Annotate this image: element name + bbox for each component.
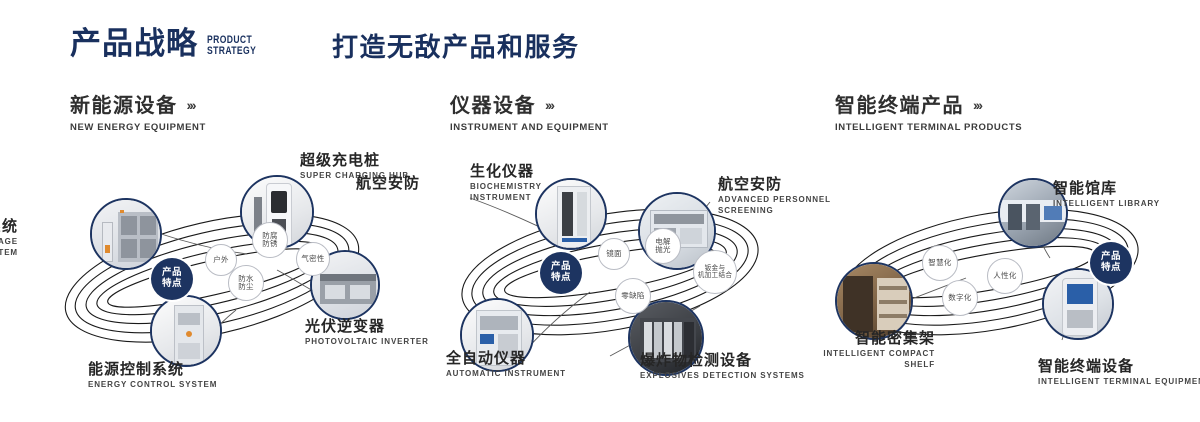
section-title-en: INTELLIGENT TERMINAL PRODUCTS [835,122,1022,133]
product-name-en: INTELLIGENT TERMINAL EQUIPMENT [1038,377,1200,388]
feature-label: 零缺陷 [621,292,644,300]
product-name-en: ENERGY STORAGE SYSTEM [0,237,18,259]
feature-label: 数字化 [948,294,971,302]
product-name-en: ENERGY CONTROL SYSTEM [88,380,278,391]
page-header: 产品战略 PRODUCT STRATEGY [70,28,270,59]
product-name-cn: 智能馆库 [1053,180,1200,197]
photo-energy-control-cabinet [152,297,220,365]
product-name-cn: 智能密集架 [745,330,935,347]
feature-bubble-digital[interactable]: 数字化 [942,280,978,316]
label-aviation-security-left: 航空安防 [330,175,420,192]
photo-energy-storage-cabinet [92,200,160,268]
node-compact-shelf[interactable] [835,262,913,340]
page-title-en: PRODUCT STRATEGY [207,35,256,57]
page-slogan: 打造无敌产品和服务 [332,34,580,60]
section-title-text: 仪器设备 [450,95,536,117]
label-automatic-instrument: 全自动仪器 AUTOMATIC INSTRUMENT [446,350,636,380]
product-name-cn: 全自动仪器 [446,350,636,367]
feature-label: 镜面 [606,250,622,258]
feature-bubble-waterproof[interactable]: 防水 防尘 [228,265,264,301]
product-name-en: INTELLIGENT COMPACT SHELF [745,349,935,371]
section-header-terminal: 智能终端产品 ››› INTELLIGENT TERMINAL PRODUCTS [835,95,1022,133]
section-header-new-energy: 新能源设备 ››› NEW ENERGY EQUIPMENT [70,95,206,133]
feature-bubble-zerodefect[interactable]: 零缺陷 [615,278,651,314]
product-name-en: AUTOMATIC INSTRUMENT [446,369,636,380]
core-bubble-label: 产品特点 [162,268,182,289]
feature-bubble-electropolish[interactable]: 电解 抛光 [645,228,681,264]
node-energy-storage[interactable] [90,198,162,270]
feature-bubble-humanized[interactable]: 人性化 [987,258,1023,294]
section-header-instrument: 仪器设备 ››› INSTRUMENT AND EQUIPMENT [450,95,609,133]
feature-bubble-intelligent[interactable]: 智慧化 [922,245,958,281]
label-biochemistry-instrument: 生化仪器 BIOCHEMISTRY INSTRUMENT [470,163,660,204]
page-title-cn: 产品战略 [70,28,198,59]
feature-label: 人性化 [993,272,1016,280]
label-compact-shelf: 智能密集架 INTELLIGENT COMPACT SHELF [745,330,935,371]
feature-bubble-sheetmetal[interactable]: 钣金与 机加工结合 [693,250,737,294]
feature-label: 防水 防尘 [238,275,254,292]
section-title-cn: 新能源设备 ››› [70,95,206,117]
label-intelligent-library: 智能馆库 INTELLIGENT LIBRARY [1053,180,1200,210]
product-name-cn: 智能终端设备 [1038,358,1200,375]
label-energy-storage: 储能系统 ENERGY STORAGE SYSTEM [0,218,18,259]
product-name-cn: 航空安防 [330,175,420,192]
feature-bubble-airtight[interactable]: 气密性 [296,242,330,276]
product-name-cn: 储能系统 [0,218,18,235]
feature-label: 电解 抛光 [655,238,671,255]
feature-label: 智慧化 [928,259,951,267]
core-bubble-instrument[interactable]: 产品特点 [540,252,582,294]
chevron-right-icon: ››› [973,98,981,113]
label-terminal-kiosk: 智能终端设备 INTELLIGENT TERMINAL EQUIPMENT [1038,358,1200,388]
chevron-right-icon: ››› [545,98,553,113]
product-name-en: BIOCHEMISTRY INSTRUMENT [470,182,660,204]
section-title-cn: 仪器设备 ››› [450,95,609,117]
feature-label: 气密性 [301,255,324,263]
feature-label: 户外 [213,256,229,264]
photo-compact-shelf [837,264,911,338]
feature-bubble-mirror[interactable]: 镜面 [598,238,630,270]
core-bubble-new-energy[interactable]: 产品特点 [151,258,193,300]
product-name-en: INTELLIGENT LIBRARY [1053,199,1200,210]
feature-label: 防腐 防锈 [262,232,278,249]
core-bubble-label: 产品特点 [551,262,571,283]
core-bubble-terminal[interactable]: 产品特点 [1090,242,1132,284]
section-title-text: 新能源设备 [70,95,178,117]
core-bubble-label: 产品特点 [1101,252,1121,273]
product-strategy-infographic: 产品战略 PRODUCT STRATEGY 打造无敌产品和服务 新能源设备 ››… [0,0,1200,422]
section-title-text: 智能终端产品 [835,95,964,117]
product-name-cn: 生化仪器 [470,163,660,180]
chevron-right-icon: ››› [187,98,195,113]
node-energy-control-system[interactable] [150,295,222,367]
label-energy-control-system: 能源控制系统 ENERGY CONTROL SYSTEM [88,361,278,391]
feature-label: 钣金与 机加工结合 [698,265,732,280]
section-title-en: INSTRUMENT AND EQUIPMENT [450,122,609,133]
section-title-cn: 智能终端产品 ››› [835,95,1022,117]
product-name-cn: 能源控制系统 [88,361,278,378]
feature-bubble-anticorrosion[interactable]: 防腐 防锈 [252,222,288,258]
section-title-en: NEW ENERGY EQUIPMENT [70,122,206,133]
